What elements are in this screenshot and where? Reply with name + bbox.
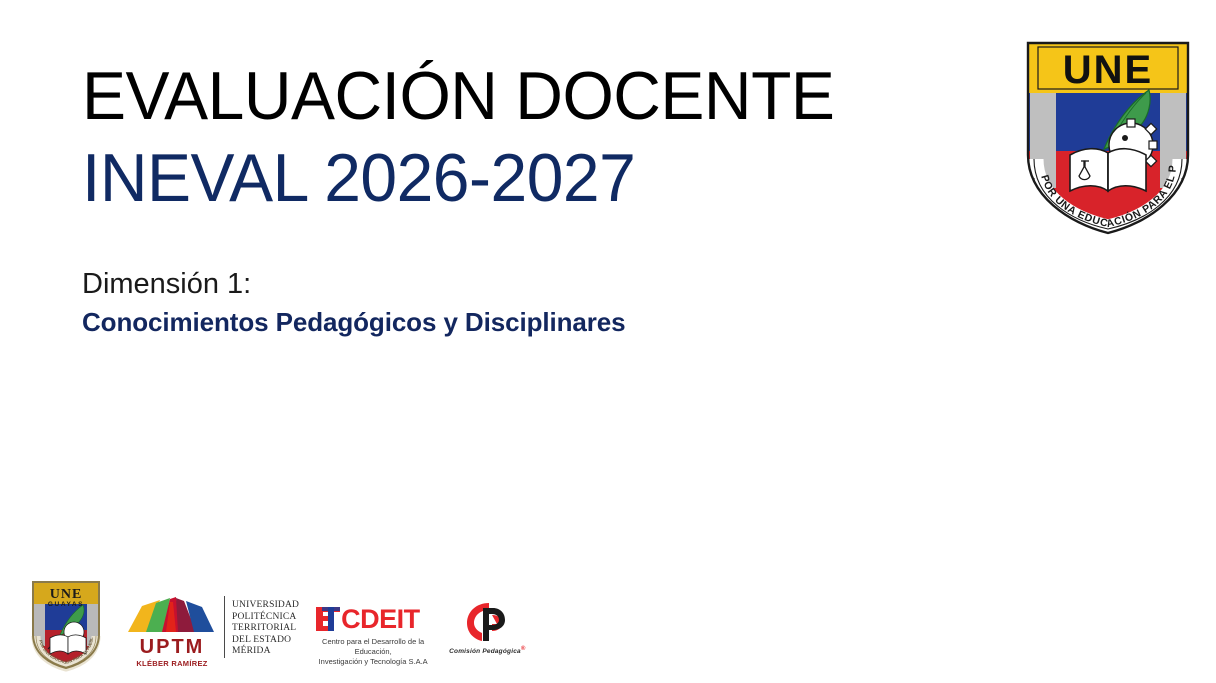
uptm-fan-icon (126, 596, 218, 636)
uptm-logo: UPTM KLÉBER RAMÍREZ UNIVERSIDAD POLITÉCN… (126, 578, 299, 668)
dimension-label: Dimensión 1: (82, 264, 902, 304)
comision-tagline-text: Comisión Pedagógica (449, 648, 521, 655)
cdeit-tagline-line-2: Investigación y Tecnología S.A.A (313, 657, 433, 667)
cdeit-acronym: CDEIT (341, 605, 420, 633)
subtitle-block: Dimensión 1: Conocimientos Pedagógicos y… (82, 264, 902, 340)
une-guayas-wordmark: UNE (50, 587, 83, 602)
cdeit-tagline: Centro para el Desarrollo de la Educació… (313, 637, 433, 667)
comision-p-icon (463, 600, 511, 644)
uptm-univ-line-5: MÉRIDA (232, 646, 299, 658)
uptm-person: KLÉBER RAMÍREZ (126, 659, 218, 668)
page-title: EVALUACIÓN DOCENTE INEVAL 2026-2027 (82, 55, 902, 219)
book-icon (1070, 149, 1146, 191)
une-wordmark: UNE (1063, 48, 1153, 92)
footer-logo-strip: UNE GUAYAS POR UNA EDUCACIÓN PARA EL PUE… (28, 578, 525, 676)
title-line-primary: EVALUACIÓN DOCENTE (82, 55, 877, 137)
title-line-secondary: INEVAL 2026-2027 (82, 137, 877, 219)
uptm-university-name: UNIVERSIDAD POLITÉCNICA TERRITORIAL DEL … (224, 596, 299, 658)
comision-pedagogica-logo: Comisión Pedagógica® (449, 578, 525, 655)
une-guayas-logo: UNE GUAYAS POR UNA EDUCACIÓN PARA EL PUE… (28, 578, 104, 672)
uptm-acronym: UPTM (126, 637, 218, 657)
uptm-univ-line-1: UNIVERSIDAD (232, 600, 299, 612)
une-shield-logo: UNE (1018, 33, 1198, 243)
cdeit-tagline-line-1: Centro para el Desarrollo de la Educació… (313, 637, 433, 657)
uptm-univ-line-4: DEL ESTADO (232, 635, 299, 647)
comision-tagline: Comisión Pedagógica® (449, 646, 525, 655)
uptm-univ-line-3: TERRITORIAL (232, 623, 299, 635)
dimension-value: Conocimientos Pedagógicos y Disciplinare… (82, 304, 902, 340)
cdeit-logo: CDEIT Centro para el Desarrollo de la Ed… (313, 578, 433, 667)
cdeit-monogram-icon (313, 604, 343, 634)
uptm-univ-line-2: POLITÉCNICA (232, 612, 299, 624)
slide-canvas: EVALUACIÓN DOCENTE INEVAL 2026-2027 Dime… (0, 0, 1216, 683)
une-guayas-subword: GUAYAS (48, 601, 84, 608)
